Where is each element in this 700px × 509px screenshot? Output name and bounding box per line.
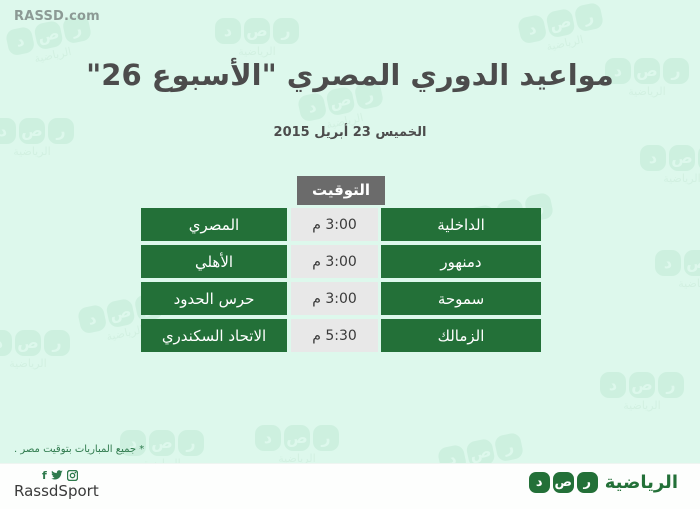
home-team-cell: الداخلية	[381, 208, 541, 241]
watermark-tile: رصدالرياضية	[640, 145, 700, 185]
table-row: الزمالك5:30 مالاتحاد السكندري	[141, 319, 541, 352]
watermark-tile: رصدالرياضية	[215, 18, 299, 58]
logo-letter-badges: رصد	[529, 472, 598, 493]
watermark-tile: رصدالرياضية	[255, 425, 339, 465]
away-team-cell: المصري	[141, 208, 287, 241]
page-date: الخميس 23 أبريل 2015	[0, 125, 700, 140]
watermark-tile: رصدالرياضية	[655, 250, 700, 290]
match-time-cell: 3:00 م	[291, 245, 378, 278]
away-team-cell: الاتحاد السكندري	[141, 319, 287, 352]
match-schedule-table: التوقيت الداخلية3:00 مالمصريدمنهور3:00 م…	[141, 176, 541, 356]
table-row: الداخلية3:00 مالمصري	[141, 208, 541, 241]
social-handle: RassdSport	[14, 482, 99, 500]
table-row: سموحة3:00 محرس الحدود	[141, 282, 541, 315]
social-icons: f	[42, 470, 99, 481]
match-rows: الداخلية3:00 مالمصريدمنهور3:00 مالأهليسم…	[141, 208, 541, 352]
watermark-tile: رصدالرياضية	[600, 372, 684, 412]
logo-word: الرياضية	[605, 472, 678, 493]
facebook-icon[interactable]: f	[42, 470, 47, 481]
footer-bar: f RassdSport الرياضية رصد	[0, 463, 700, 509]
match-time-cell: 3:00 م	[291, 282, 378, 315]
watermark-tile: رصدالرياضية	[517, 2, 607, 59]
logo-badge-2: ص	[553, 472, 574, 493]
away-team-cell: حرس الحدود	[141, 282, 287, 315]
time-column-header: التوقيت	[297, 176, 385, 205]
away-team-cell: الأهلي	[141, 245, 287, 278]
twitter-icon[interactable]	[51, 470, 63, 481]
infographic-canvas: رصدالرياضيةرصدالرياضيةرصدالرياضيةرصدالري…	[0, 0, 700, 509]
instagram-icon[interactable]	[67, 470, 78, 481]
logo-badge-3: د	[529, 472, 550, 493]
table-row: دمنهور3:00 مالأهلي	[141, 245, 541, 278]
match-time-cell: 3:00 م	[291, 208, 378, 241]
match-time-cell: 5:30 م	[291, 319, 378, 352]
timezone-note: * جميع المباريات بتوقيت مصر .	[14, 444, 144, 455]
home-team-cell: الزمالك	[381, 319, 541, 352]
watermark-tile: رصدالرياضية	[0, 330, 70, 370]
page-title: مواعيد الدوري المصري "الأسبوع 26"	[0, 58, 700, 92]
rassd-sport-logo: الرياضية رصد	[529, 472, 678, 493]
logo-badge-1: ر	[577, 472, 598, 493]
social-block: f RassdSport	[14, 470, 99, 500]
home-team-cell: سموحة	[381, 282, 541, 315]
home-team-cell: دمنهور	[381, 245, 541, 278]
site-name: RASSD.com	[14, 9, 100, 24]
